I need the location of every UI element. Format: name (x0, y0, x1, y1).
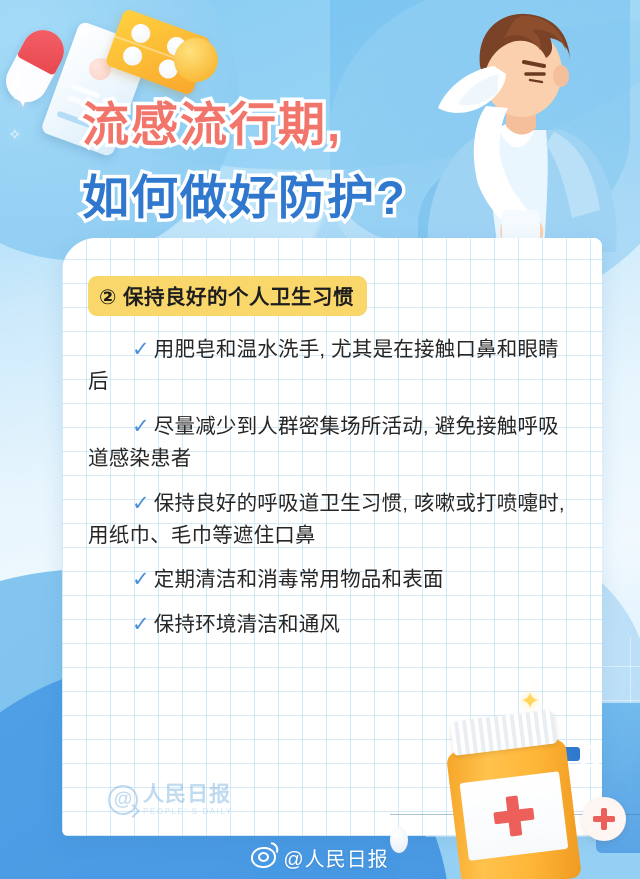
medicine-box-dot (86, 55, 114, 83)
blister-pill (129, 21, 153, 45)
check-icon: ✓ (132, 613, 150, 636)
blister-seam (114, 35, 201, 68)
list-item: ✓用肥皂和温水洗手, 尤其是在接触口鼻和眼睛后 (88, 333, 572, 399)
blister-pill (120, 44, 144, 68)
list-item-text: 定期清洁和消毒常用物品和表面 (154, 568, 444, 591)
sun-circle-icon (174, 38, 218, 82)
peoples-daily-watermark: @ 人民日报 PEOPLE' S DAILY (108, 784, 233, 816)
check-icon: ✓ (132, 568, 150, 591)
weibo-icon (251, 847, 276, 868)
blister-pill (156, 57, 180, 81)
tips-list: ✓用肥皂和温水洗手, 尤其是在接触口鼻和眼睛后 ✓尽量减少到人群密集场所活动, … (88, 333, 572, 641)
section-heading: ② 保持良好的个人卫生习惯 (88, 276, 367, 316)
poster-canvas: ✦ ✧ (0, 0, 640, 879)
pill-blister-pack-icon (105, 8, 212, 96)
check-icon: ✓ (132, 492, 150, 515)
weibo-handle: @人民日报 (283, 843, 388, 872)
list-item: ✓保持环境清洁和通风 (88, 608, 572, 641)
watermark-name-en: PEOPLE' S DAILY (143, 808, 233, 816)
capsule-pill-icon (0, 23, 71, 110)
weibo-inner-ring (258, 852, 269, 862)
background-strip-right (596, 703, 640, 853)
list-item-text: 尽量减少到人群密集场所活动, 避免接触呼吸道感染患者 (88, 415, 559, 470)
list-item-text: 保持环境清洁和通风 (154, 613, 340, 636)
watermark-name-cn: 人民日报 (143, 784, 233, 805)
weibo-signal-arc (269, 842, 280, 853)
sparkle-icon: ✧ (8, 128, 21, 144)
check-icon: ✓ (132, 338, 150, 361)
sparkle-icon: ✦ (12, 86, 34, 112)
content-card: ② 保持良好的个人卫生习惯 ✓用肥皂和温水洗手, 尤其是在接触口鼻和眼睛后 ✓尽… (62, 238, 602, 836)
bottom-attribution-bar: @人民日报 (0, 835, 640, 879)
poster-title: 流感流行期, 如何做好防护? (82, 86, 512, 228)
list-item-text: 保持良好的呼吸道卫生习惯, 咳嗽或打喷嚏时, 用纸巾、毛巾等遮住口鼻 (88, 492, 565, 547)
list-item: ✓尽量减少到人群密集场所活动, 避免接触呼吸道感染患者 (88, 410, 572, 476)
title-line-1: 流感流行期, (82, 86, 512, 155)
at-symbol-icon: @ (108, 785, 138, 815)
blister-pill (164, 34, 188, 58)
title-line-2: 如何做好防护? (82, 159, 512, 228)
list-item-text: 用肥皂和温水洗手, 尤其是在接触口鼻和眼睛后 (88, 338, 559, 393)
list-item: ✓保持良好的呼吸道卫生习惯, 咳嗽或打喷嚏时, 用纸巾、毛巾等遮住口鼻 (88, 487, 572, 553)
list-item: ✓定期清洁和消毒常用物品和表面 (88, 563, 572, 596)
check-icon: ✓ (132, 415, 150, 438)
